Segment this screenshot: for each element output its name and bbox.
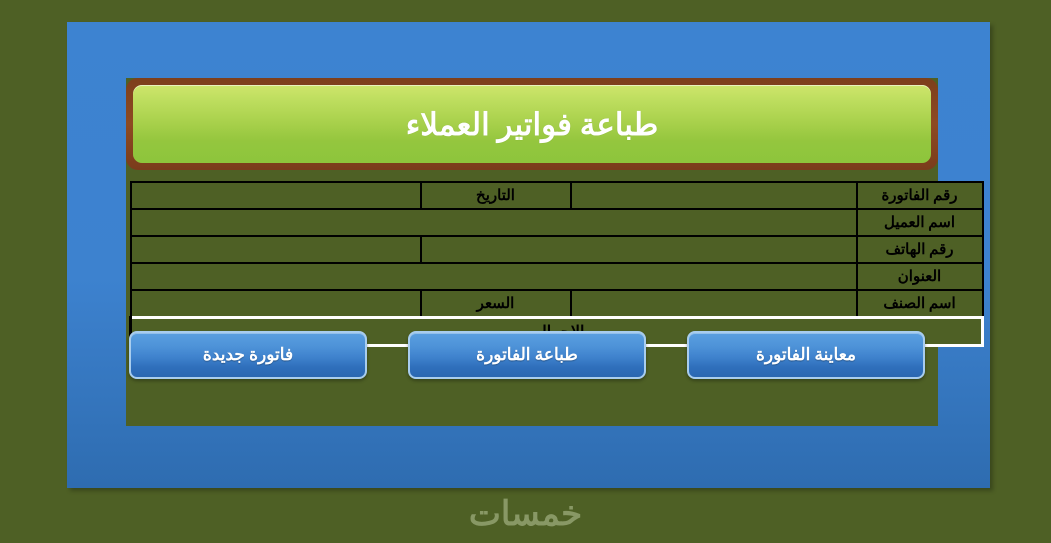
page-title: طباعة فواتير العملاء bbox=[406, 109, 659, 140]
input-phone-number-extra[interactable] bbox=[131, 236, 421, 263]
title-banner: طباعة فواتير العملاء bbox=[126, 78, 938, 170]
table-row-phone-number: رقم الهاتف bbox=[131, 236, 983, 263]
title-banner-inner: طباعة فواتير العملاء bbox=[133, 85, 931, 163]
action-button-row: معاينة الفاتورة طباعة الفاتورة فاتورة جد… bbox=[129, 330, 925, 380]
new-invoice-button[interactable]: فاتورة جديدة bbox=[129, 331, 367, 379]
application-panel: طباعة فواتير العملاء رقم الفاتورة التاري… bbox=[67, 22, 990, 488]
print-invoice-button[interactable]: طباعة الفاتورة bbox=[408, 331, 646, 379]
table-row-invoice-number: رقم الفاتورة التاريخ bbox=[131, 182, 983, 209]
label-phone-number: رقم الهاتف bbox=[857, 236, 983, 263]
input-item-name[interactable] bbox=[571, 290, 857, 318]
label-item-name: اسم الصنف bbox=[857, 290, 983, 318]
khamsat-watermark: خمسات bbox=[0, 494, 1051, 534]
table-row-item: اسم الصنف السعر الكمية bbox=[131, 290, 983, 318]
input-address[interactable] bbox=[131, 263, 857, 290]
input-invoice-number[interactable] bbox=[571, 182, 857, 209]
input-phone-number[interactable] bbox=[421, 236, 857, 263]
label-price: السعر bbox=[421, 290, 571, 318]
table-row-address: العنوان bbox=[131, 263, 983, 290]
invoice-fields-table: رقم الفاتورة التاريخ اسم العميل رقم الها… bbox=[129, 181, 984, 347]
invoice-form-container: طباعة فواتير العملاء رقم الفاتورة التاري… bbox=[126, 78, 938, 426]
label-address: العنوان bbox=[857, 263, 983, 290]
input-date[interactable] bbox=[131, 182, 421, 209]
label-customer-name: اسم العميل bbox=[857, 209, 983, 236]
label-date: التاريخ bbox=[421, 182, 571, 209]
table-row-customer-name: اسم العميل bbox=[131, 209, 983, 236]
input-price[interactable] bbox=[131, 290, 421, 318]
input-customer-name[interactable] bbox=[131, 209, 857, 236]
label-invoice-number: رقم الفاتورة bbox=[857, 182, 983, 209]
preview-invoice-button[interactable]: معاينة الفاتورة bbox=[687, 331, 925, 379]
